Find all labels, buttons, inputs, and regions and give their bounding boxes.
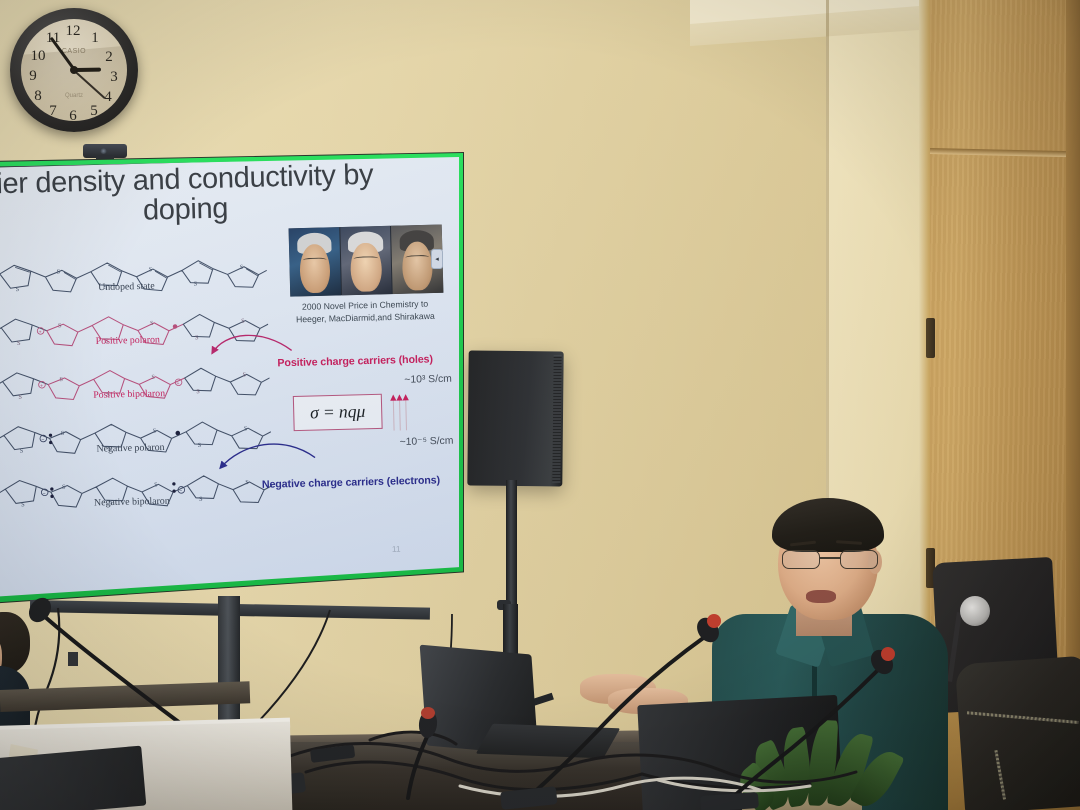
eyeglass-lens-left [782, 550, 820, 569]
clock-numeral-12: 12 [65, 24, 81, 39]
equation-rhs: nqμ [339, 401, 366, 422]
display-screen[interactable]: ▲ 无线投屏 01:15:01 结束共享 ier density and con… [0, 157, 459, 597]
clock-numeral-5: 5 [86, 104, 102, 119]
equation-box: σ = nqμ [293, 394, 383, 431]
door-edge [1066, 0, 1080, 700]
svg-text:S: S [59, 376, 63, 383]
backpack-zipper-main [967, 711, 1079, 724]
equation-sigma: σ [310, 403, 319, 424]
up-arrows-icon [388, 391, 416, 431]
clock-hour-hand [74, 68, 101, 72]
svg-text:−: − [43, 491, 46, 497]
attendee-left [0, 612, 48, 742]
svg-text:S: S [58, 322, 62, 329]
svg-text:S: S [149, 266, 153, 273]
backpack-zipper-front [994, 750, 1006, 800]
pa-speaker [467, 351, 563, 487]
screenshot-root: CASIO Quartz 12 1 2 3 4 5 6 7 8 9 10 11 [0, 0, 1080, 810]
svg-text:S: S [242, 371, 246, 378]
portrait-macdiarmid [340, 226, 392, 296]
slide-content: ▲ 无线投屏 01:15:01 结束共享 ier density and con… [0, 157, 459, 597]
laptop-left[interactable] [0, 746, 146, 810]
portrait-glasses [302, 257, 326, 264]
eyeglass-bridge [820, 557, 840, 559]
wall-display[interactable]: ▲ 无线投屏 01:15:01 结束共享 ier density and con… [0, 152, 464, 604]
speaker-stand-pole-upper [506, 480, 517, 610]
presenter-mouth [806, 590, 836, 603]
slide-title: ier density and conductivity by doping [0, 159, 429, 230]
svg-text:S: S [61, 430, 65, 437]
clock-center-hub [70, 66, 78, 74]
clock-numeral-1: 1 [87, 31, 103, 46]
svg-text:+: + [38, 329, 41, 335]
svg-text:S: S [57, 268, 61, 275]
svg-text:S: S [62, 484, 66, 491]
speaker-grille [552, 355, 561, 482]
svg-text:S: S [153, 428, 157, 435]
annotation-positive-carriers: Positive charge carriers (holes) [277, 353, 459, 369]
clock-numeral-3: 3 [106, 70, 122, 85]
chair-knob [960, 596, 990, 626]
clock-numeral-6: 6 [65, 109, 81, 121]
clock-numeral-10: 10 [30, 49, 46, 64]
wall-clock: CASIO Quartz 12 1 2 3 4 5 6 7 8 9 10 11 [10, 8, 138, 132]
svg-text:−: − [179, 488, 182, 494]
structure-row-undoped: SS SS SS Undoped state [0, 248, 268, 305]
svg-text:S: S [240, 264, 244, 271]
attendee-hair [0, 612, 30, 674]
svg-text:S: S [241, 318, 245, 325]
svg-text:+: + [40, 383, 43, 389]
conductivity-low-value: ~10⁻⁵ S/cm [279, 435, 453, 451]
portrait-glasses [354, 256, 378, 263]
nobel-laureates-photo [289, 224, 444, 296]
svg-text:S: S [150, 320, 154, 327]
slide-page-number: 11 [392, 544, 401, 554]
structure-row-negative-polaron: − SS SS SS Negative polaron [0, 409, 272, 466]
presenter-hair [772, 498, 884, 552]
svg-text:−: − [41, 437, 44, 443]
svg-text:S: S [244, 425, 248, 432]
laptop-keyboard-base[interactable] [476, 724, 620, 759]
equation-equals: = [323, 402, 335, 423]
conductivity-high-value: ~10³ S/cm [278, 373, 452, 389]
structure-row-negative-bipolaron: − − SS SS SS Negative bipolaron [0, 463, 273, 520]
svg-text:S: S [151, 374, 155, 381]
laptop-center[interactable] [423, 650, 601, 768]
eyeglass-lens-right [840, 550, 878, 569]
annotation-negative-carriers: Negative charge carriers (electrons) [262, 474, 459, 491]
svg-text:+: + [176, 381, 179, 387]
clock-numeral-2: 2 [101, 50, 117, 65]
svg-text:S: S [154, 481, 158, 488]
structure-row-positive-polaron: + SS SS SS Positive polaron [0, 301, 269, 358]
clock-numeral-9: 9 [25, 69, 41, 84]
door-hinge-upper [926, 318, 935, 358]
clock-numeral-8: 8 [30, 89, 46, 104]
portrait-face [350, 242, 381, 292]
svg-text:S: S [245, 479, 249, 486]
clock-numeral-7: 7 [45, 104, 61, 119]
nobel-caption: 2000 Novel Price in Chemistry to Heeger,… [276, 297, 455, 327]
structure-row-positive-bipolaron: + + SS SS SS Positive bipolaron [0, 355, 270, 412]
black-backpack [955, 656, 1080, 810]
clock-face: CASIO Quartz 12 1 2 3 4 5 6 7 8 9 10 11 [21, 19, 127, 121]
portrait-heeger [289, 227, 341, 297]
potted-plant [740, 718, 940, 810]
presenter-eyeglasses [782, 550, 878, 570]
collapse-handle-icon[interactable]: ◂ [431, 249, 443, 269]
